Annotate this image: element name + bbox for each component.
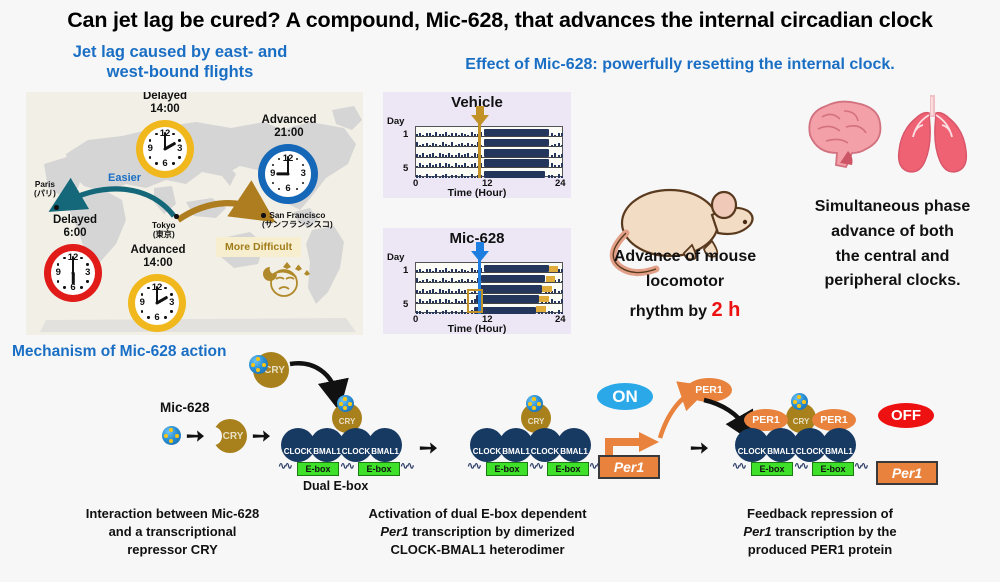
tired-face-icon — [256, 249, 312, 305]
actogram-noise-bar — [474, 270, 476, 272]
actogram-noise-bar — [419, 281, 421, 282]
caption-step-3-italic: Per1 — [743, 524, 771, 539]
actogram-noise-bar — [561, 163, 563, 167]
mic628-molecule-icon — [162, 426, 181, 445]
complex-c-cry-label: CRY — [793, 417, 810, 426]
actogram-noise-bar — [451, 142, 453, 146]
actogram-noise-bar — [455, 155, 457, 157]
actogram-noise-bar — [471, 156, 473, 157]
clock-face: 12369 — [135, 281, 180, 326]
actogram-noise-bar — [464, 163, 466, 167]
actogram-noise-bar — [471, 280, 473, 283]
vehicle-actogram-panel: Vehicle Day 1 5 0 12 24 Time (Hour) — [383, 92, 571, 198]
actogram-noise-bar — [426, 269, 428, 272]
caption-step-1-line-3: repressor CRY — [45, 541, 300, 559]
per1-gene-box-b: Per1 — [598, 455, 660, 479]
actogram-noise-bar — [448, 313, 450, 314]
clock-tick — [86, 280, 88, 282]
actogram-noise-bar — [442, 311, 444, 314]
paris-label-en: Paris — [35, 180, 55, 189]
actogram-noise-bar — [422, 301, 424, 303]
clock-numeral-3: 3 — [165, 298, 179, 308]
clock-tokyo-delayed: 12369 — [136, 120, 194, 178]
arrow-1-icon: ➙ — [186, 425, 204, 447]
cry-free-blob: CRY — [213, 419, 247, 453]
actogram-noise-bar — [432, 301, 434, 302]
actogram-noise-bar — [451, 155, 453, 157]
actogram-noise-bar — [458, 144, 460, 147]
actogram-noise-bar — [471, 164, 473, 167]
clock-label-tokyo-delayed: Delayed 14:00 — [120, 92, 210, 116]
clock-tick — [149, 139, 151, 141]
actogram-noise-bar — [429, 145, 431, 146]
actogram-noise-bar — [426, 279, 428, 283]
caption-step-3-line-2: Per1 transcription by the — [690, 523, 950, 541]
actogram-noise-bar — [464, 299, 466, 303]
clock-tick — [272, 164, 274, 166]
clock-tick — [296, 158, 298, 160]
actogram-noise-bar — [439, 289, 441, 292]
actogram-noise-bar — [554, 153, 556, 157]
actogram-noise-bar — [451, 166, 453, 167]
actogram-noise-bar — [467, 135, 469, 136]
actogram-noise-bar — [558, 291, 560, 292]
paris-dot — [54, 205, 59, 210]
actogram-noise-bar — [471, 132, 473, 136]
actogram-noise-bar — [432, 312, 434, 314]
actogram-noise-bar — [455, 281, 457, 282]
actogram-noise-bar — [551, 155, 553, 157]
actogram-noise-bar — [416, 154, 418, 156]
actogram-noise-bar — [416, 270, 418, 273]
actogram-noise-bar — [429, 299, 431, 303]
actogram-noise-bar — [432, 165, 434, 166]
actogram-noise-bar — [435, 132, 437, 136]
actogram-noise-bar — [558, 143, 560, 147]
clock-face: 12369 — [143, 127, 188, 172]
actogram-noise-bar — [467, 166, 469, 167]
actogram-noise-bar — [474, 281, 476, 282]
actogram-row — [416, 147, 562, 157]
actogram-noise-bar — [545, 313, 547, 314]
actogram-noise-bar — [448, 300, 450, 303]
complex-b-bmal1-2-label: BMAL1 — [557, 447, 591, 456]
actogram-noise-bar — [426, 165, 428, 167]
sf-label-jp: (サンフランシスコ) — [262, 220, 333, 229]
actogram-noise-bar — [455, 269, 457, 272]
jetlag-subtitle: Jet lag caused by east- and west-bound f… — [20, 42, 340, 82]
actogram-noise-bar — [429, 154, 431, 157]
actogram-noise-bar — [432, 279, 434, 282]
actogram-noise-bar — [558, 155, 560, 156]
actogram-activity-block — [476, 295, 539, 302]
complex-c-dna-right: ∿∿ — [854, 461, 867, 472]
treatment-arrow-icon — [469, 242, 491, 264]
actogram-noise-bar — [551, 145, 553, 146]
caption-step-2-line-2: Per1 transcription by dimerized — [330, 523, 625, 541]
actogram-noise-bar — [455, 163, 457, 167]
vehicle-day-label: Day — [387, 116, 404, 127]
clock-minute-hand — [287, 156, 289, 174]
clock-tick — [147, 316, 149, 318]
clock-minute-hand — [164, 132, 166, 149]
actogram-noise-bar — [455, 291, 457, 293]
on-badge: ON — [597, 383, 653, 410]
actogram-noise-bar — [467, 176, 469, 178]
actogram-noise-bar — [558, 279, 560, 283]
actogram-noise-bar — [461, 301, 463, 303]
complex-a-ebox-2: E-box — [358, 462, 400, 476]
tokyo-dot — [174, 214, 179, 219]
clock-numeral-9: 9 — [51, 268, 65, 278]
actogram-noise-bar — [432, 289, 434, 293]
caption-step-3: Feedback repression of Per1 transcriptio… — [690, 505, 950, 559]
jetlag-subtitle-line2: west-bound flights — [107, 63, 254, 81]
clock-tick — [302, 182, 304, 184]
sf-label-en: San Francisco — [269, 211, 325, 220]
clock-tick — [63, 286, 65, 288]
clock-tick — [170, 293, 172, 295]
actogram-activity-block — [484, 129, 549, 136]
actogram-noise-bar — [561, 281, 563, 282]
actogram-noise-bar — [554, 135, 556, 136]
sanfrancisco-label: San Francisco (サンフランシスコ) — [262, 211, 333, 230]
actogram-noise-bar — [474, 153, 476, 157]
clock-center-pin — [287, 173, 290, 176]
actogram-noise-bar — [422, 271, 424, 272]
caption-step-2-italic: Per1 — [380, 524, 408, 539]
clock-tick — [272, 182, 274, 184]
actogram-noise-bar — [451, 302, 453, 303]
caption-step-2-line-3: CLOCK-BMAL1 heterodimer — [330, 541, 625, 559]
mic628-day-label: Day — [387, 252, 404, 263]
actogram-noise-bar — [439, 153, 441, 156]
mic628-actogram-plot — [415, 262, 563, 313]
actogram-noise-bar — [419, 311, 421, 314]
complex-b-molecule-icon — [526, 395, 543, 412]
actogram-noise-bar — [439, 313, 441, 314]
actogram-noise-bar — [474, 145, 476, 146]
organs-result-line-1: Simultaneous phase — [790, 195, 995, 220]
actogram-noise-bar — [461, 310, 463, 314]
actogram-noise-bar — [467, 143, 469, 147]
actogram-noise-bar — [445, 163, 447, 166]
actogram-noise-bar — [422, 289, 424, 293]
mouse-result-prefix: rhythm by — [630, 303, 712, 320]
off-badge: OFF — [878, 403, 934, 428]
actogram-noise-bar — [464, 176, 466, 178]
actogram-noise-bar — [439, 281, 441, 282]
actogram-noise-bar — [461, 165, 463, 167]
complex-c-ebox-2: E-box — [812, 462, 854, 476]
complex-a-ebox-1: E-box — [297, 462, 339, 476]
clock-tick — [302, 164, 304, 166]
actogram-noise-bar — [442, 134, 444, 136]
cry-free-label: CRY — [223, 431, 244, 442]
actogram-noise-bar — [416, 302, 418, 303]
actogram-noise-bar — [561, 154, 563, 157]
actogram-noise-bar — [474, 134, 476, 136]
actogram-noise-bar — [439, 299, 441, 303]
caption-step-3-line-1: Feedback repression of — [690, 505, 950, 523]
actogram-noise-bar — [464, 154, 466, 157]
actogram-noise-bar — [455, 311, 457, 314]
arrow-3-icon: ➙ — [419, 437, 437, 459]
eastbound-arrow — [178, 203, 260, 220]
actogram-noise-bar — [419, 291, 421, 293]
actogram-row — [416, 168, 562, 178]
actogram-noise-bar — [561, 299, 563, 303]
actogram-noise-bar — [416, 166, 418, 167]
actogram-noise-bar — [461, 269, 463, 273]
actogram-row — [416, 137, 562, 147]
actogram-noise-bar — [451, 278, 453, 282]
westbound-arrow — [62, 189, 174, 216]
clock-numeral-3: 3 — [173, 144, 187, 154]
clock-numeral-6: 6 — [281, 184, 295, 194]
actogram-noise-bar — [432, 271, 434, 272]
actogram-noise-bar — [448, 289, 450, 293]
actogram-noise-bar — [432, 176, 434, 178]
actogram-noise-bar — [551, 163, 553, 167]
actogram-noise-bar — [426, 291, 428, 292]
actogram-noise-bar — [426, 174, 428, 178]
actogram-row — [416, 273, 562, 283]
complex-a-cry-label: CRY — [339, 417, 356, 426]
per1-gene-box-c: Per1 — [876, 461, 938, 485]
clock-minute-hand — [72, 256, 74, 273]
actogram-noise-bar — [416, 290, 418, 292]
actogram-noise-bar — [435, 144, 437, 147]
actogram-noise-bar — [451, 291, 453, 293]
actogram-noise-bar — [419, 133, 421, 137]
actogram-noise-bar — [429, 176, 431, 178]
actogram-noise-bar — [445, 299, 447, 302]
complex-a-dna-left: ∿∿ — [278, 461, 291, 472]
clock-tick — [80, 257, 82, 259]
advance-marker — [542, 286, 552, 292]
clock-tick — [296, 188, 298, 190]
clock-face: 12369 — [51, 251, 96, 296]
mic628-actogram-panel: Mic-628 Day 1 5 0 12 24 Time (Hour) — [383, 228, 571, 334]
actogram-noise-bar — [455, 175, 457, 178]
actogram-noise-bar — [467, 153, 469, 156]
actogram-noise-bar — [445, 310, 447, 314]
actogram-activity-block — [484, 149, 549, 156]
treatment-arrow-icon — [469, 106, 491, 128]
actogram-noise-bar — [455, 145, 457, 146]
clock-tick — [172, 162, 174, 164]
complex-c-ebox-1: E-box — [751, 462, 793, 476]
complex-b-ebox-1: E-box — [486, 462, 528, 476]
actogram-noise-bar — [448, 145, 450, 147]
advance-marker — [536, 306, 546, 312]
clock-tick — [170, 310, 172, 312]
actogram-noise-bar — [455, 299, 457, 303]
actogram-noise-bar — [461, 174, 463, 178]
complex-c-bmal1-2-label: BMAL1 — [822, 447, 856, 456]
world-map-panel: Easier Paris (パリ) Tokyo (東京) San Francis… — [26, 92, 363, 335]
actogram-noise-bar — [435, 292, 437, 293]
actogram-noise-bar — [458, 271, 460, 272]
complex-b-dna-mid: ∿∿ — [529, 461, 542, 472]
actogram-noise-bar — [419, 175, 421, 178]
actogram-noise-bar — [442, 166, 444, 167]
actogram-noise-bar — [435, 280, 437, 283]
actogram-row — [416, 158, 562, 168]
actogram-noise-bar — [422, 144, 424, 147]
actogram-noise-bar — [451, 269, 453, 272]
actogram-noise-bar — [471, 174, 473, 178]
actogram-noise-bar — [464, 281, 466, 282]
actogram-noise-bar — [442, 175, 444, 178]
actogram-noise-bar — [551, 175, 553, 178]
jetlag-subtitle-line1: Jet lag caused by east- and — [73, 43, 288, 61]
actogram-noise-bar — [558, 133, 560, 136]
complex-a-bmal1-2 — [368, 428, 402, 462]
dual-ebox-label: Dual E-box — [303, 479, 368, 493]
actogram-noise-bar — [458, 135, 460, 136]
actogram-noise-bar — [561, 290, 563, 293]
actogram-noise-bar — [458, 280, 460, 283]
effect-subtitle: Effect of Mic-628: powerfully resetting … — [400, 56, 960, 74]
clock-numeral-3: 3 — [81, 268, 95, 278]
actogram-noise-bar — [445, 280, 447, 282]
paris-label-jp: (パリ) — [34, 189, 56, 198]
actogram-noise-bar — [442, 278, 444, 282]
actogram-noise-bar — [461, 143, 463, 146]
actogram-noise-bar — [422, 153, 424, 157]
actogram-row — [416, 283, 562, 293]
clock-hour-hand — [72, 273, 75, 285]
clock-tick — [164, 287, 166, 289]
advance-marker — [546, 276, 556, 282]
actogram-noise-bar — [554, 289, 556, 293]
actogram-noise-bar — [435, 310, 437, 314]
organs-result-line-3: the central and — [790, 245, 995, 270]
complex-b-bmal1-2 — [557, 428, 591, 462]
complex-a-molecule-icon — [337, 395, 354, 412]
actogram-noise-bar — [445, 132, 447, 136]
cry-notch — [206, 427, 222, 445]
clock-center-pin — [164, 148, 167, 151]
actogram-noise-bar — [442, 270, 444, 272]
actogram-noise-bar — [464, 134, 466, 137]
actogram-noise-bar — [429, 312, 431, 314]
actogram-noise-bar — [448, 135, 450, 136]
clock-tick — [141, 293, 143, 295]
actogram-noise-bar — [448, 153, 450, 157]
tokyo-label-jp: (東京) — [153, 230, 175, 239]
actogram-noise-bar — [448, 281, 450, 283]
actogram-noise-bar — [461, 291, 463, 292]
actogram-noise-bar — [558, 301, 560, 303]
clock-tick — [80, 286, 82, 288]
clock-paris-delayed: 12369 — [44, 244, 102, 302]
caption-step-3-line-3: produced PER1 protein — [690, 541, 950, 559]
actogram-noise-bar — [445, 291, 447, 292]
clock-tick — [57, 280, 59, 282]
clock-tokyo-advanced: 12369 — [128, 274, 186, 332]
actogram-noise-bar — [445, 268, 447, 272]
actogram-noise-bar — [464, 290, 466, 293]
actogram-noise-bar — [474, 177, 476, 178]
actogram-noise-bar — [422, 280, 424, 283]
mic628-x-axis-title: Time (Hour) — [383, 323, 571, 335]
paris-label: Paris (パリ) — [34, 180, 56, 199]
actogram-noise-bar — [439, 177, 441, 178]
actogram-noise-bar — [439, 163, 441, 167]
clock-tick — [164, 316, 166, 318]
brain-icon — [800, 95, 890, 167]
actogram-noise-bar — [561, 133, 563, 136]
caption-step-1-line-1: Interaction between Mic-628 — [45, 505, 300, 523]
actogram-noise-bar — [451, 175, 453, 178]
actogram-noise-bar — [429, 163, 431, 167]
clock-tick — [141, 310, 143, 312]
actogram-noise-bar — [426, 155, 428, 156]
complex-c-dna-mid: ∿∿ — [794, 461, 807, 472]
actogram-noise-bar — [416, 134, 418, 137]
actogram-noise-bar — [461, 133, 463, 137]
easier-label: Easier — [108, 172, 141, 184]
complex-b-ebox-2: E-box — [547, 462, 589, 476]
actogram-row — [416, 127, 562, 137]
advance-marker — [539, 296, 549, 302]
caption-step-2-line-1: Activation of dual E-box dependent — [330, 505, 625, 523]
actogram-noise-bar — [448, 164, 450, 167]
actogram-noise-bar — [448, 271, 450, 272]
caption-step-1-line-2: and a transcriptional — [45, 523, 300, 541]
actogram-noise-bar — [419, 269, 421, 273]
arrow-2-icon: ➙ — [252, 425, 270, 447]
actogram-noise-bar — [458, 165, 460, 167]
organs-result-line-4: peripheral clocks. — [790, 269, 995, 294]
clock-numeral-9: 9 — [143, 144, 157, 154]
actogram-noise-bar — [558, 165, 560, 167]
mic628-day-tick-1: 1 — [403, 265, 408, 276]
caption-step-2-line-2-rest: transcription by dimerized — [409, 524, 575, 539]
clock-minute-hand — [156, 286, 158, 303]
mic628-day-tick-5: 5 — [403, 299, 408, 310]
actogram-noise-bar — [442, 154, 444, 157]
actogram-noise-bar — [426, 143, 428, 147]
actogram-noise-bar — [426, 301, 428, 303]
clock-tick — [149, 156, 151, 158]
actogram-noise-bar — [429, 133, 431, 136]
actogram-noise-bar — [422, 165, 424, 167]
vehicle-day-tick-5: 5 — [403, 163, 408, 174]
actogram-noise-bar — [464, 145, 466, 146]
actogram-noise-bar — [474, 163, 476, 166]
actogram-noise-bar — [471, 144, 473, 147]
actogram-noise-bar — [461, 155, 463, 156]
actogram-noise-bar — [422, 135, 424, 136]
actogram-noise-bar — [471, 268, 473, 272]
actogram-noise-bar — [448, 177, 450, 178]
lungs-icon — [885, 93, 981, 173]
actogram-noise-bar — [445, 144, 447, 146]
actogram-noise-bar — [445, 155, 447, 156]
complex-c-dna-left: ∿∿ — [732, 461, 745, 472]
clock-tick — [86, 263, 88, 265]
actogram-activity-block — [474, 307, 536, 314]
clock-numeral-6: 6 — [158, 159, 172, 169]
complex-b-dna-left: ∿∿ — [467, 461, 480, 472]
tokyo-label-en: Tokyo — [152, 221, 176, 230]
clock-label-tokyo-advanced: Advanced 14:00 — [110, 244, 206, 270]
mouse-result-line-3: rhythm by 2 h — [580, 295, 790, 326]
